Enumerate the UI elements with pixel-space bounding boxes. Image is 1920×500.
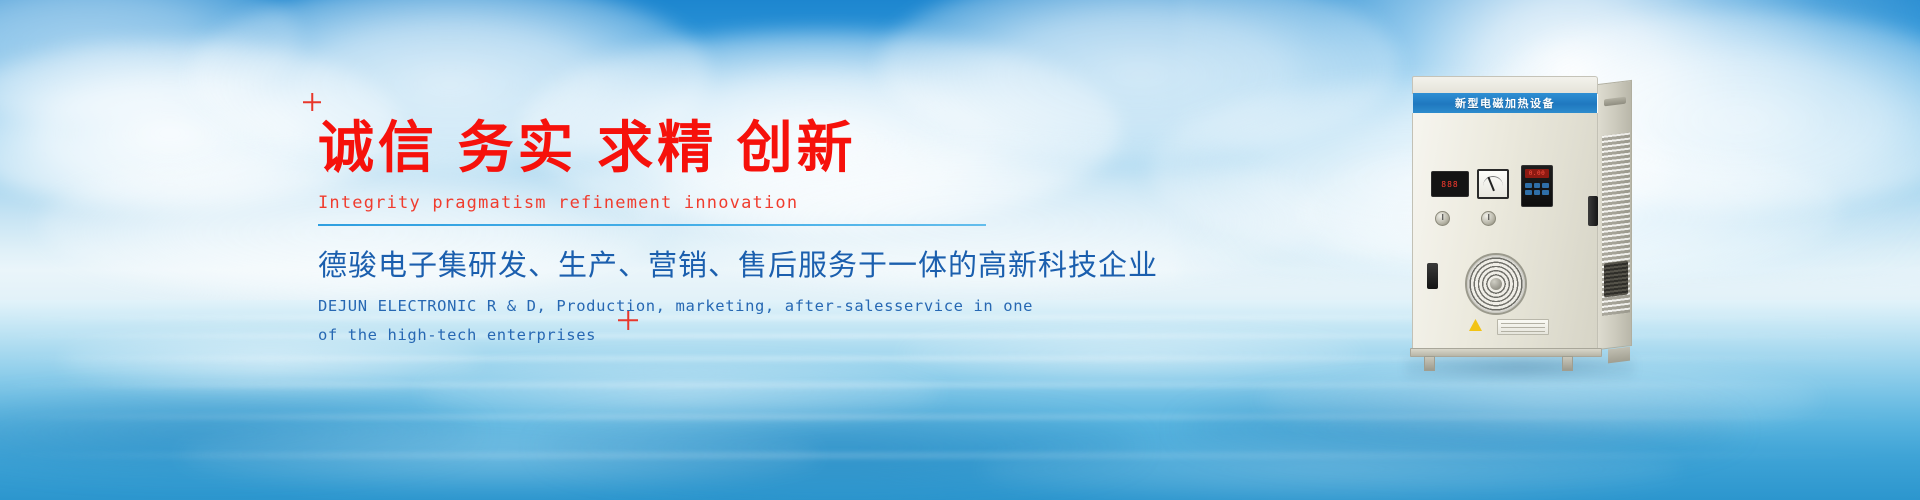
subtitle-english-line2: of the high-tech enterprises	[318, 321, 1018, 350]
product-machine-image: 新型电磁加热设备 888 0.00	[1412, 76, 1632, 370]
machine-temperature-controller: 888	[1431, 171, 1469, 197]
subtitle-english-line1: DEJUN ELECTRONIC R & D, Production, mark…	[318, 292, 1018, 321]
inverter-display: 0.00	[1525, 169, 1549, 178]
water-streak	[0, 382, 1920, 388]
machine-warning-sticker-icon	[1469, 319, 1482, 331]
machine-inverter-panel: 0.00	[1521, 165, 1553, 207]
headline-english: Integrity pragmatism refinement innovati…	[318, 193, 1018, 213]
inverter-key	[1534, 183, 1541, 188]
banner-text-block: 诚信 务实 求精 创新 Integrity pragmatism refinem…	[318, 92, 1018, 350]
water-streak	[0, 452, 1920, 459]
water-streak	[0, 414, 1920, 420]
machine-label-text: 新型电磁加热设备	[1455, 95, 1555, 111]
nameplate-line	[1501, 331, 1545, 333]
inverter-key	[1525, 183, 1532, 188]
inverter-key	[1534, 190, 1541, 195]
inverter-display-value: 0.00	[1529, 170, 1545, 177]
machine-knob-icon	[1435, 211, 1450, 226]
inverter-key	[1542, 183, 1549, 188]
nameplate-line	[1501, 323, 1545, 325]
machine-base	[1410, 348, 1602, 357]
nameplate-line	[1501, 327, 1545, 329]
machine-nameplate	[1497, 319, 1549, 335]
machine-label-band: 新型电磁加热设备	[1413, 93, 1597, 113]
machine-rocker-switch-icon	[1427, 263, 1438, 289]
machine-fan-grille-icon	[1465, 253, 1527, 315]
promo-banner: 诚信 务实 求精 创新 Integrity pragmatism refinem…	[0, 0, 1920, 500]
inverter-keypad-icon	[1525, 183, 1549, 195]
machine-shadow	[1406, 354, 1634, 380]
water-highlight	[980, 436, 1680, 500]
machine-lower-vent-icon	[1604, 261, 1628, 298]
divider	[318, 224, 986, 226]
machine-knob-icon	[1481, 211, 1496, 226]
machine-foot	[1424, 356, 1435, 371]
machine-top-lid	[1412, 76, 1598, 94]
meter-arc	[1483, 176, 1503, 186]
subtitle-chinese: 德骏电子集研发、生产、营销、售后服务于一体的高新科技企业	[318, 242, 1018, 284]
machine-foot	[1608, 347, 1630, 364]
machine-front-panel: 888 0.00	[1412, 113, 1598, 350]
inverter-key	[1525, 190, 1532, 195]
machine-door-latch-icon	[1588, 196, 1598, 226]
machine-foot	[1562, 356, 1573, 371]
inverter-key	[1542, 190, 1549, 195]
headline-chinese: 诚信 务实 求精 创新	[318, 116, 1018, 180]
machine-analog-meter-icon	[1477, 169, 1509, 199]
controller-display-value: 888	[1441, 180, 1458, 189]
